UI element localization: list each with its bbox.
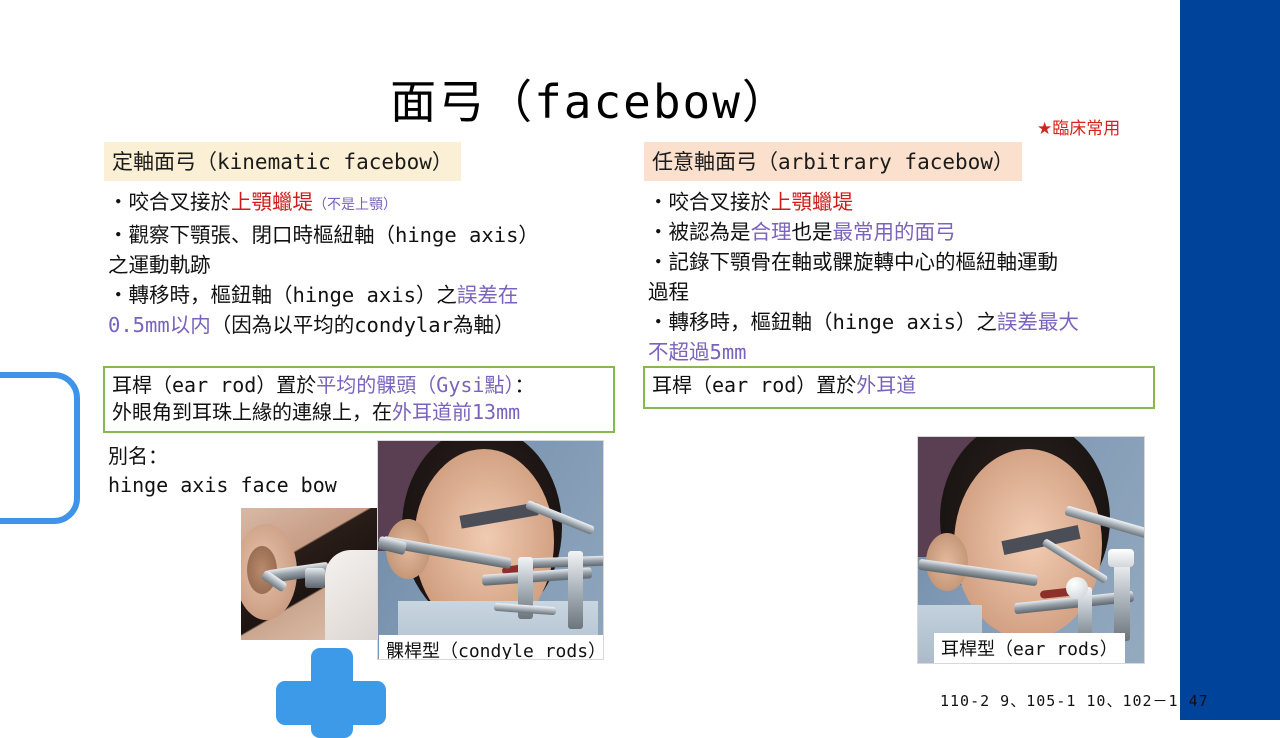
photo-condyle-rods: 髁桿型（condyle rods） (377, 440, 604, 660)
right-ear-rod-note-box: 耳桿（ear rod）置於外耳道 (643, 366, 1155, 409)
alias-text: 別名： hinge axis face bow (108, 442, 337, 500)
text-run: 之運動軌跡 (108, 253, 211, 277)
blue-cross-decoration (276, 648, 386, 738)
bullet-item: 0.5mm以内（因為以平均的condylar為軸） (104, 311, 618, 340)
gloved-hand (325, 550, 377, 640)
footer-reference: 110-2 9、105-1 10、102－1 47 (940, 690, 1209, 711)
facebow-knob (1066, 577, 1088, 599)
text-run: 誤差最大 (997, 310, 1079, 334)
bullet-item: 被認為是合理也是最常用的面弓 (644, 218, 1158, 247)
text-run: 也是 (792, 220, 833, 244)
bullet-item: 觀察下顎張、閉口時樞紐軸（hinge axis） (104, 221, 618, 250)
bullet-item: 記錄下顎骨在軸或髁旋轉中心的樞紐軸運動 (644, 248, 1158, 277)
text-run: 轉移時，樞鈕軸（hinge axis）之 (129, 283, 457, 307)
left-ear-rod-note-box: 耳桿（ear rod）置於平均的髁頭（Gysi點）：外眼角到耳珠上緣的連線上，在… (103, 366, 615, 433)
right-accent-bar (1180, 0, 1280, 720)
text-run: 不超過5mm (648, 340, 747, 364)
text-run: 上顎蠟堤 (231, 190, 313, 214)
text-run: 外耳道前13mm (392, 400, 520, 424)
text-run: 觀察下顎張、閉口時樞紐軸（hinge axis） (129, 223, 539, 247)
text-run: 記錄下顎骨在軸或髁旋轉中心的樞紐軸運動 (669, 250, 1059, 274)
photo-ear-rods: 耳桿型（ear rods） (917, 436, 1145, 664)
text-run: 耳桿（ear rod）置於 (112, 373, 316, 397)
slide-canvas: 面弓（facebow） ★臨床常用 定軸面弓（kinematic facebow… (0, 0, 1280, 720)
photo-condyle-caption: 髁桿型（condyle rods） (379, 635, 604, 660)
text-run: 耳桿（ear rod）置於 (652, 373, 856, 397)
text-run: 被認為是 (669, 220, 751, 244)
bullet-item: 轉移時，樞鈕軸（hinge axis）之誤差最大 (644, 308, 1158, 337)
text-run: 咬合叉接於 (129, 190, 232, 214)
left-column-header: 定軸面弓（kinematic facebow） (104, 142, 461, 181)
blue-cross-horizontal (276, 681, 386, 725)
text-run: 0.5mm以内 (108, 313, 211, 337)
text-run: 轉移時，樞鈕軸（hinge axis）之 (669, 310, 997, 334)
bullet-item: 轉移時，樞鈕軸（hinge axis）之誤差在 (104, 281, 618, 310)
note-line: 耳桿（ear rod）置於平均的髁頭（Gysi點）： (112, 372, 606, 399)
text-run: （不是上顎） (313, 197, 397, 213)
left-column-bullets: 咬合叉接於上顎蠟堤（不是上顎）觀察下顎張、閉口時樞紐軸（hinge axis）之… (104, 188, 618, 340)
text-run: 誤差在 (457, 283, 519, 307)
text-run: 合理 (751, 220, 792, 244)
note-line: 外眼角到耳珠上緣的連線上，在外耳道前13mm (112, 399, 606, 426)
facebow-vertical-rod-b (568, 551, 583, 629)
text-run: ： (514, 373, 534, 397)
text-run: 最常用的面弓 (833, 220, 956, 244)
right-column-header: 任意軸面弓（arbitrary facebow） (644, 142, 1022, 181)
condyle-rod-block (305, 568, 325, 588)
left-rounded-rect-decoration (0, 372, 80, 524)
text-run: 平均的髁頭（Gysi點） (316, 373, 514, 397)
bullet-item: 過程 (644, 278, 1158, 307)
photo-ear-caption: 耳桿型（ear rods） (934, 633, 1125, 664)
left-column: 定軸面弓（kinematic facebow） 咬合叉接於上顎蠟堤（不是上顎）觀… (104, 142, 618, 341)
facebow-white-block (1108, 549, 1134, 567)
text-run: （因為以平均的condylar為軸） (211, 313, 515, 337)
facebow-vertical-rod-a (1114, 561, 1130, 641)
text-run: 上顎蠟堤 (771, 190, 853, 214)
right-column: 任意軸面弓（arbitrary facebow） 咬合叉接於上顎蠟堤被認為是合理… (644, 142, 1158, 368)
text-run: 咬合叉接於 (669, 190, 772, 214)
text-run: 外眼角到耳珠上緣的連線上，在 (112, 400, 392, 424)
photo-ear-closeup (241, 508, 377, 640)
text-run: 外耳道 (856, 373, 916, 397)
right-column-bullets: 咬合叉接於上顎蠟堤被認為是合理也是最常用的面弓記錄下顎骨在軸或髁旋轉中心的樞紐軸… (644, 188, 1158, 367)
bullet-item: 之運動軌跡 (104, 251, 618, 280)
clinical-common-badge: ★臨床常用 (1037, 114, 1120, 139)
bullet-item: 不超過5mm (644, 338, 1158, 367)
page-title: 面弓（facebow） (0, 66, 1180, 132)
text-run: 過程 (648, 280, 689, 304)
bullet-item: 咬合叉接於上顎蠟堤 (644, 188, 1158, 217)
bullet-item: 咬合叉接於上顎蠟堤（不是上顎） (104, 188, 618, 220)
